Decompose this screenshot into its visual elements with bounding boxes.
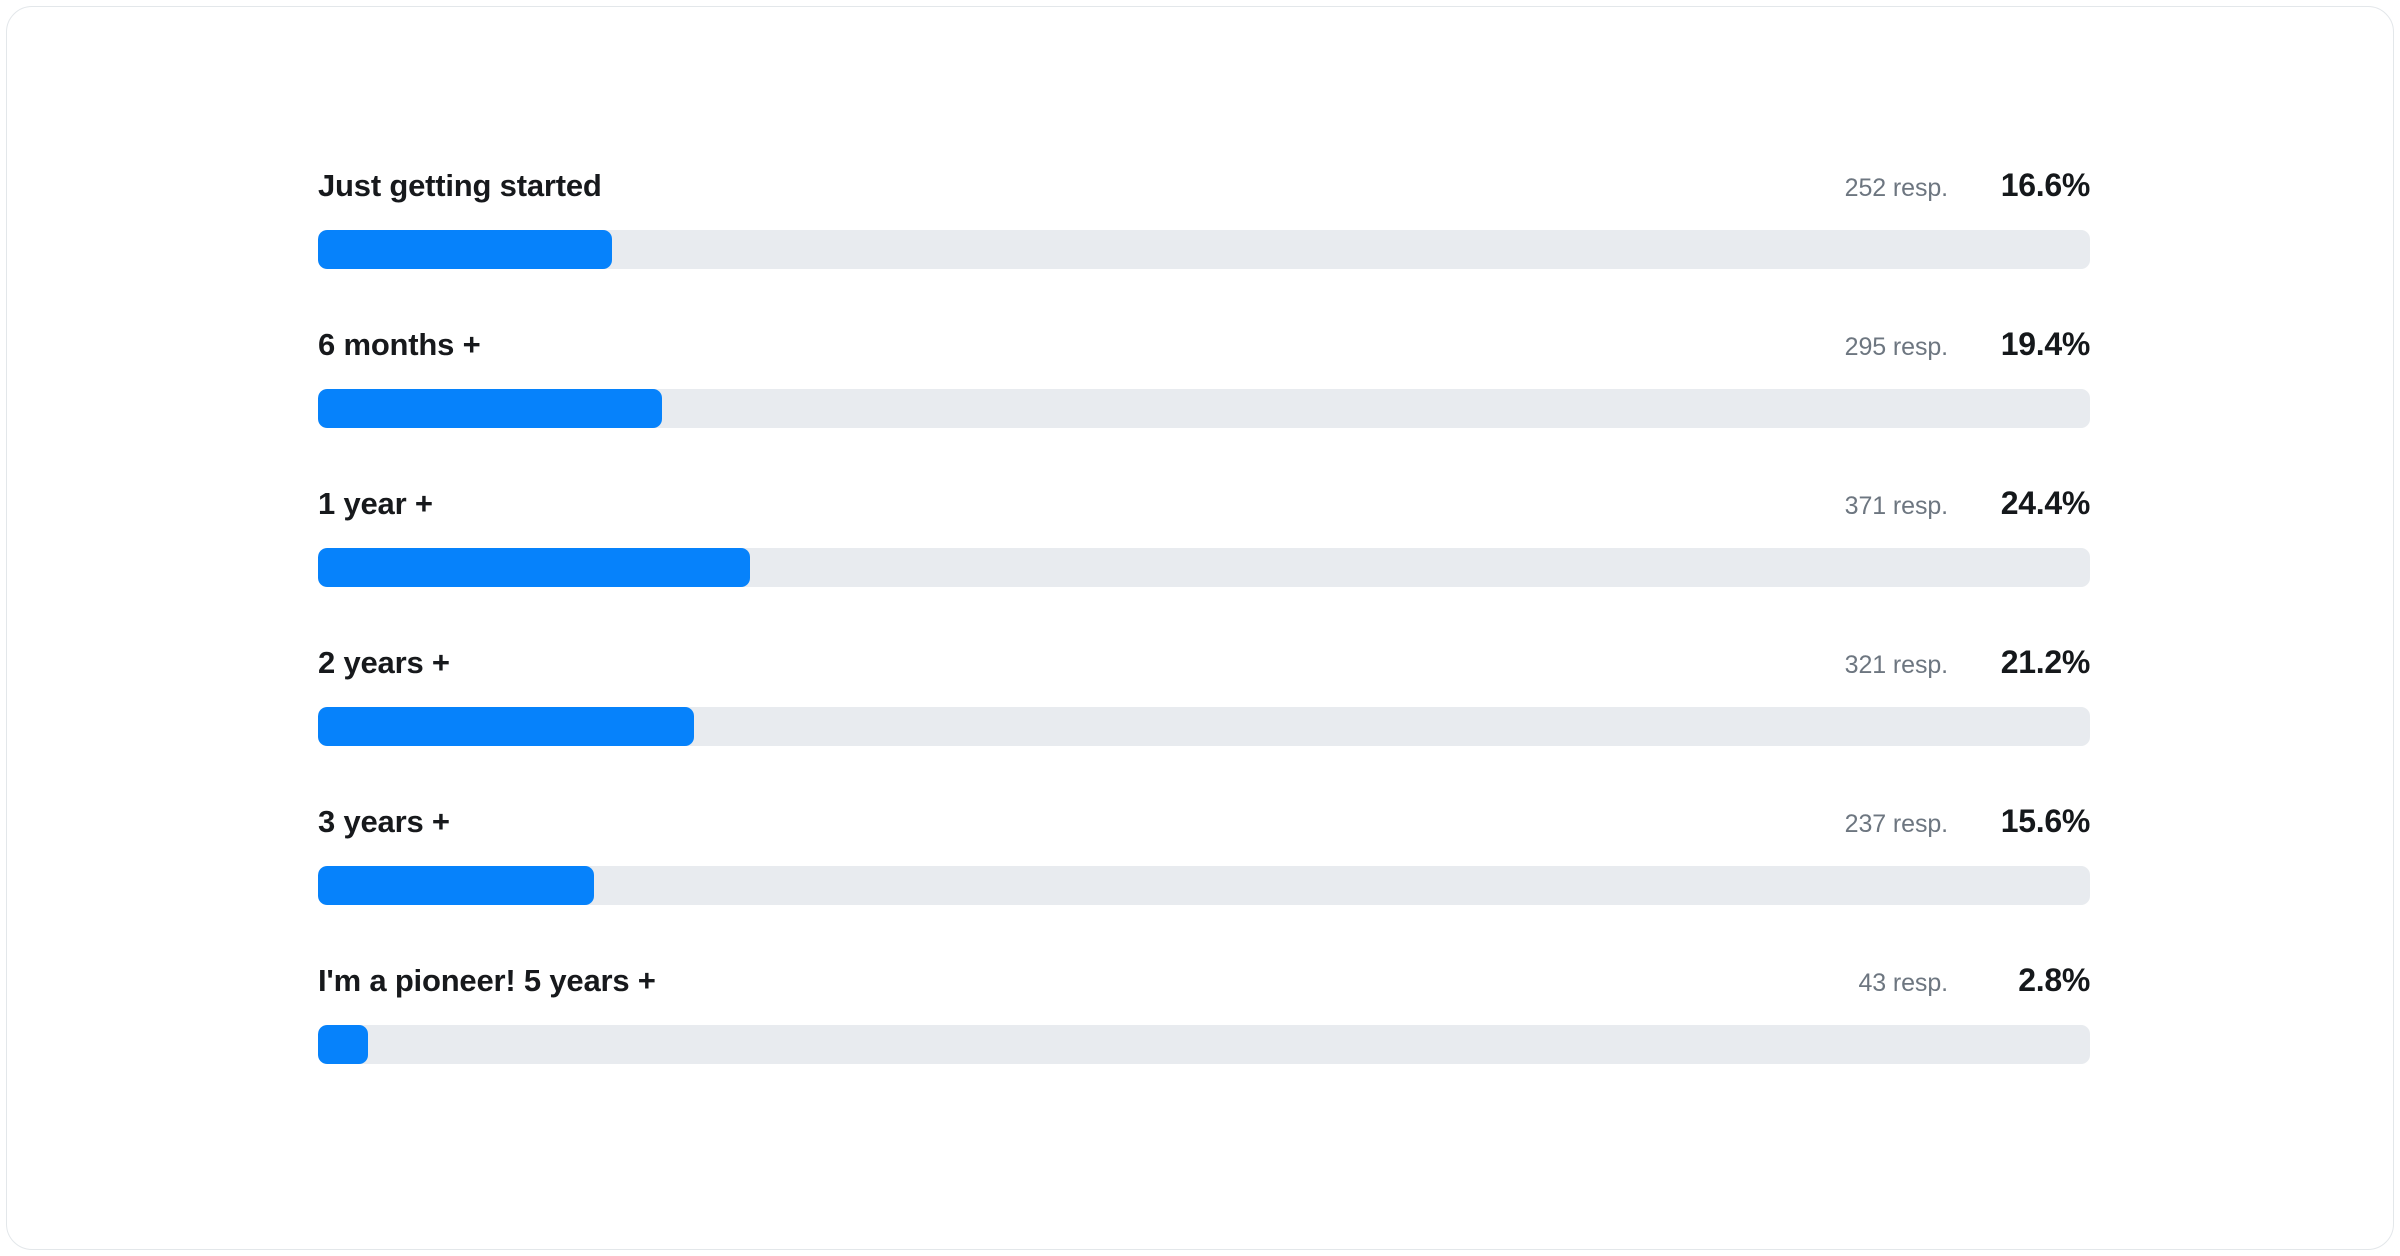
- result-row: Just getting started 252 resp. 16.6%: [318, 167, 2090, 269]
- result-row-header: 1 year + 371 resp. 24.4%: [318, 485, 2090, 527]
- result-row-label: 1 year +: [318, 486, 433, 522]
- result-row-label: Just getting started: [318, 168, 602, 204]
- result-row-header: 3 years + 237 resp. 15.6%: [318, 803, 2090, 845]
- result-row-stats: 321 resp. 21.2%: [1845, 644, 2090, 681]
- result-row: 3 years + 237 resp. 15.6%: [318, 803, 2090, 905]
- result-row-label: 2 years +: [318, 645, 450, 681]
- result-row-responses: 237 resp.: [1845, 810, 1948, 839]
- result-row-responses: 252 resp.: [1845, 174, 1948, 203]
- result-row-percent: 19.4%: [1972, 326, 2090, 363]
- result-row-label: 3 years +: [318, 804, 450, 840]
- result-row-stats: 43 resp. 2.8%: [1858, 962, 2090, 999]
- result-row-percent: 24.4%: [1972, 485, 2090, 522]
- result-row-label: I'm a pioneer! 5 years +: [318, 963, 656, 999]
- result-row-percent: 15.6%: [1972, 803, 2090, 840]
- survey-results-card: Just getting started 252 resp. 16.6% 6 m…: [6, 6, 2394, 1250]
- result-row: 2 years + 321 resp. 21.2%: [318, 644, 2090, 746]
- result-row-header: I'm a pioneer! 5 years + 43 resp. 2.8%: [318, 962, 2090, 1004]
- bar-fill: [318, 389, 662, 428]
- bar-fill: [318, 866, 594, 905]
- result-row: 1 year + 371 resp. 24.4%: [318, 485, 2090, 587]
- result-row-stats: 237 resp. 15.6%: [1845, 803, 2090, 840]
- result-row-header: 2 years + 321 resp. 21.2%: [318, 644, 2090, 686]
- bar-track: [318, 866, 2090, 905]
- result-row-header: Just getting started 252 resp. 16.6%: [318, 167, 2090, 209]
- bar-track: [318, 230, 2090, 269]
- result-row-percent: 2.8%: [1972, 962, 2090, 999]
- bar-fill: [318, 548, 750, 587]
- bar-track: [318, 707, 2090, 746]
- bar-track: [318, 1025, 2090, 1064]
- result-row-header: 6 months + 295 resp. 19.4%: [318, 326, 2090, 368]
- result-row: I'm a pioneer! 5 years + 43 resp. 2.8%: [318, 962, 2090, 1064]
- result-row-label: 6 months +: [318, 327, 481, 363]
- result-row-responses: 371 resp.: [1845, 492, 1948, 521]
- bar-track: [318, 548, 2090, 587]
- bar-fill: [318, 707, 694, 746]
- result-row: 6 months + 295 resp. 19.4%: [318, 326, 2090, 428]
- result-row-responses: 295 resp.: [1845, 333, 1948, 362]
- result-row-stats: 295 resp. 19.4%: [1845, 326, 2090, 363]
- result-row-percent: 16.6%: [1972, 167, 2090, 204]
- horizontal-bar-chart: Just getting started 252 resp. 16.6% 6 m…: [318, 167, 2090, 1064]
- bar-track: [318, 389, 2090, 428]
- result-row-stats: 252 resp. 16.6%: [1845, 167, 2090, 204]
- result-row-responses: 321 resp.: [1845, 651, 1948, 680]
- bar-fill: [318, 1025, 368, 1064]
- bar-fill: [318, 230, 612, 269]
- result-row-percent: 21.2%: [1972, 644, 2090, 681]
- result-row-stats: 371 resp. 24.4%: [1845, 485, 2090, 522]
- result-row-responses: 43 resp.: [1858, 969, 1948, 998]
